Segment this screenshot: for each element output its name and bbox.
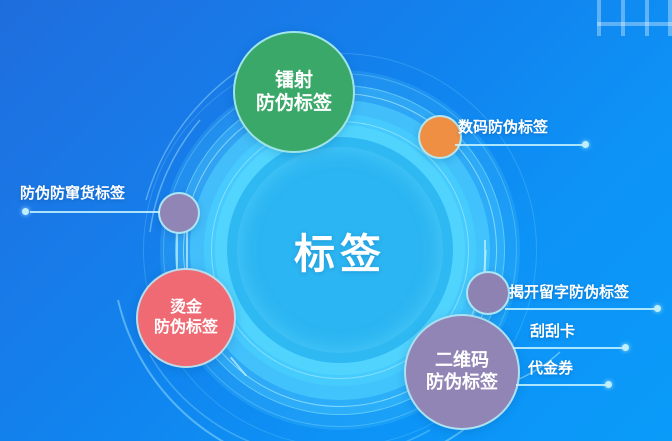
- label-line-anti-diversion: [30, 211, 160, 213]
- label-line-peel: [505, 308, 657, 310]
- qrcode-line1: 二维码: [435, 350, 489, 372]
- label-peel: 揭开留字防伪标签: [509, 281, 629, 302]
- hot-stamping-line1: 烫金: [170, 298, 202, 318]
- label-dot-anti-diversion: [22, 208, 29, 215]
- laser-label-line2: 防伪标签: [256, 92, 332, 115]
- label-dot-voucher: [605, 381, 612, 388]
- label-line-voucher: [516, 384, 608, 386]
- qrcode-label-node[interactable]: 二维码 防伪标签: [404, 314, 520, 430]
- label-dot-scratch: [622, 344, 629, 351]
- qrcode-line2: 防伪标签: [426, 372, 498, 394]
- label-digital: 数码防伪标签: [458, 116, 548, 137]
- label-dot-peel: [654, 305, 661, 312]
- label-anti-diversion: 防伪防窜货标签: [20, 182, 125, 203]
- connector-peel: [484, 240, 486, 274]
- anti-diversion-label-dot[interactable]: [158, 192, 200, 234]
- hub-label: 标签: [294, 220, 386, 280]
- label-dot-digital: [582, 141, 589, 148]
- grid-decoration-icon: [597, 0, 672, 36]
- hot-stamping-label-node[interactable]: 烫金 防伪标签: [136, 268, 236, 368]
- infographic-canvas: 标签 镭射 防伪标签 烫金 防伪标签 二维码 防伪标签 防伪防窜货标签 数码防伪…: [0, 0, 672, 441]
- label-line-scratch: [513, 347, 625, 349]
- label-line-digital: [455, 144, 585, 146]
- hot-stamping-line2: 防伪标签: [154, 318, 218, 338]
- label-scratch: 刮刮卡: [530, 320, 575, 341]
- digital-label-dot[interactable]: [418, 115, 462, 159]
- label-voucher: 代金券: [528, 357, 573, 378]
- peel-reveal-label-dot[interactable]: [466, 271, 510, 315]
- laser-label-line1: 镭射: [275, 69, 313, 92]
- laser-label-node[interactable]: 镭射 防伪标签: [233, 31, 355, 153]
